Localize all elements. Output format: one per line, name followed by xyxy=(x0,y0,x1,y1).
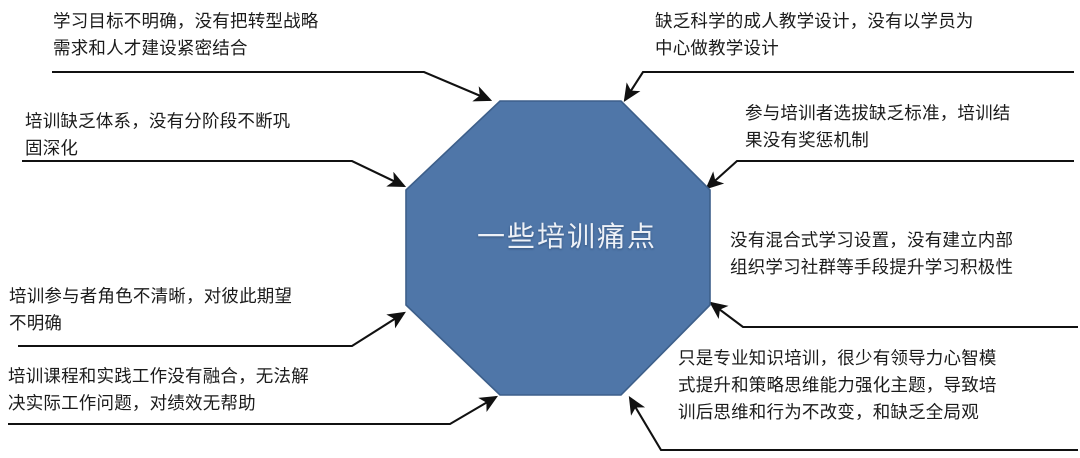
leader-line-no-training-system xyxy=(22,161,404,186)
leader-line-no-blended-learning xyxy=(711,303,1078,327)
leader-line-no-adult-learning-design xyxy=(625,72,1074,100)
page-title: 一些培训痛点 xyxy=(477,215,657,255)
callout-no-training-system: 培训缺乏体系，没有分阶段不断巩 固深化 xyxy=(25,108,385,162)
leader-line-unclear-learning-goals xyxy=(52,72,490,100)
training-pain-points-diagram: 一些培训痛点 学习目标不明确，没有把转型战略 需求和人才建设紧密结合 培训缺乏体… xyxy=(0,0,1080,458)
callout-only-professional-knowledge: 只是专业知识培训，很少有领导力心智模 式提升和策略思维能力强化主题，导致培 训后… xyxy=(678,345,1078,426)
callout-no-adult-learning-design: 缺乏科学的成人教学设计，没有以学员为 中心做教学设计 xyxy=(655,8,1075,62)
leader-line-no-selection-standard xyxy=(707,161,1074,188)
callout-courses-not-integrated: 培训课程和实践工作没有融合，无法解 决实际工作问题，对绩效无帮助 xyxy=(8,363,428,417)
callout-unclear-learning-goals: 学习目标不明确，没有把转型战略 需求和人才建设紧密结合 xyxy=(53,8,383,62)
callout-unclear-roles: 培训参与者角色不清晰，对彼此期望 不明确 xyxy=(9,283,389,337)
callout-no-blended-learning: 没有混合式学习设置，没有建立内部 组织学习社群等手段提升学习积极性 xyxy=(730,227,1080,281)
callout-no-selection-standard: 参与培训者选拔缺乏标准，培训结 果没有奖惩机制 xyxy=(745,100,1075,154)
